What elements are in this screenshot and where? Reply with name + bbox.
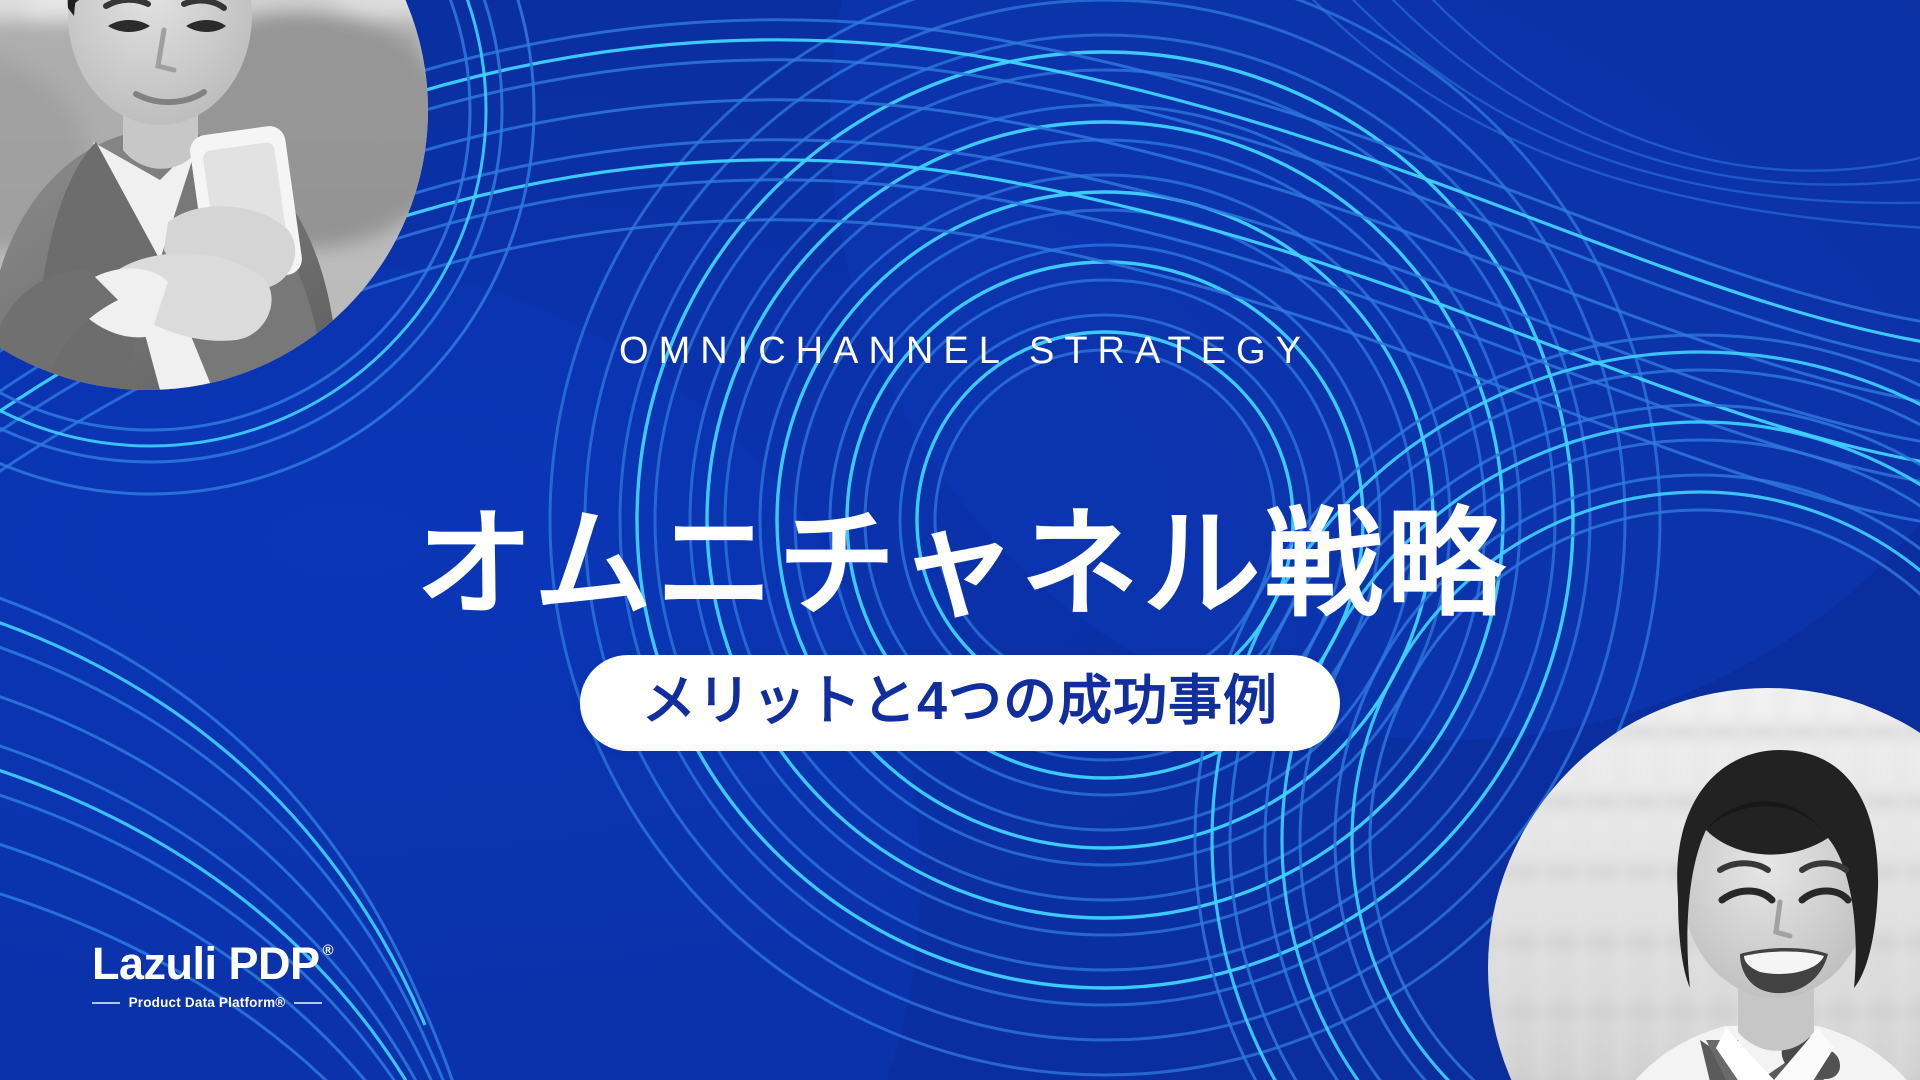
subtitle-pill: メリットと4つの成功事例 (580, 655, 1340, 751)
registered-trademark-icon: ® (323, 943, 334, 958)
logo-wordmark: Lazuli PDP ® (92, 941, 322, 986)
hero-banner: OMNICHANNEL STRATEGY オムニチャネル戦略 メリットと4つの成… (0, 0, 1920, 1080)
logo-tagline-row: Product Data Platform® (92, 995, 322, 1010)
logo-tagline: Product Data Platform® (129, 995, 286, 1010)
brand-logo[interactable]: Lazuli PDP ® Product Data Platform® (92, 941, 322, 1010)
logo-rule-right (294, 1002, 322, 1004)
page-title: オムニチャネル戦略 (0, 497, 1920, 634)
logo-rule-left (92, 1002, 120, 1004)
eyebrow-label: OMNICHANNEL STRATEGY (0, 332, 1920, 370)
hero-content: OMNICHANNEL STRATEGY オムニチャネル戦略 メリットと4つの成… (0, 0, 1920, 1080)
logo-wordmark-text: Lazuli PDP (92, 941, 320, 986)
